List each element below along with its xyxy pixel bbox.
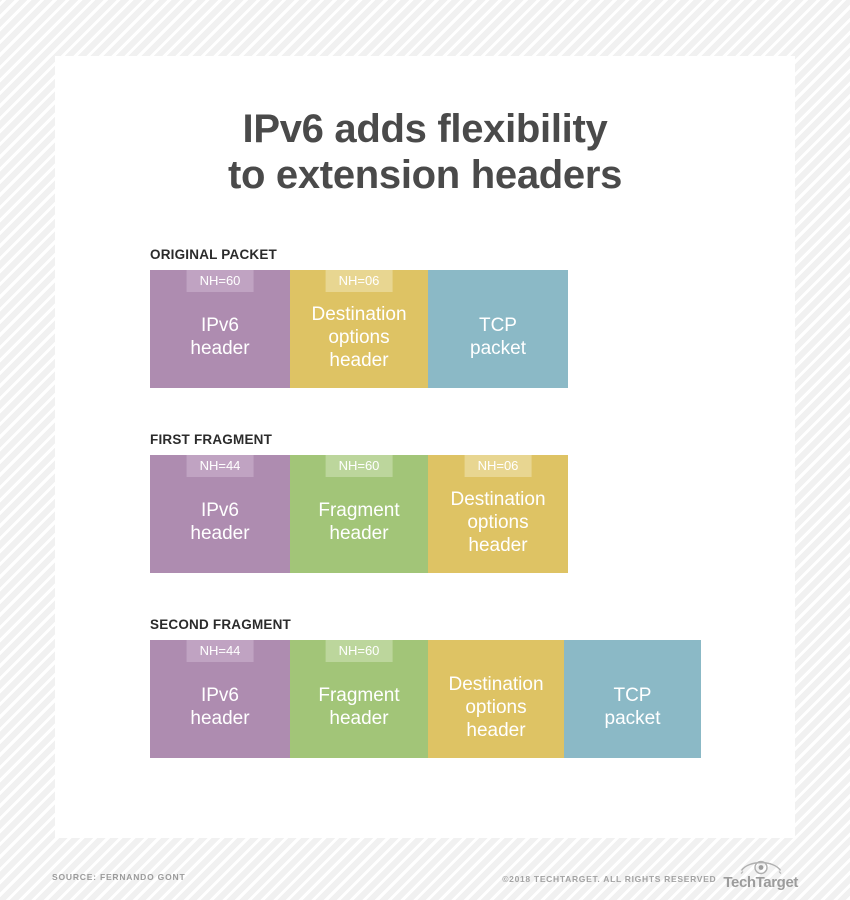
packet-block-label: Fragment header (314, 684, 403, 730)
page-title: IPv6 adds flexibility to extension heade… (55, 56, 795, 198)
footer-branding: ©2018 TECHTARGET. ALL RIGHTS RESERVED Te… (502, 858, 798, 894)
section-label: SECOND FRAGMENT (150, 617, 750, 632)
packet-section: ORIGINAL PACKETNH=60IPv6 headerNH=06Dest… (150, 247, 750, 388)
packet-block[interactable]: TCP packet (428, 270, 568, 388)
packet-section: SECOND FRAGMENTNH=44IPv6 headerNH=60Frag… (150, 617, 750, 758)
next-header-badge: NH=60 (326, 455, 393, 477)
packet-section: FIRST FRAGMENTNH=44IPv6 headerNH=60Fragm… (150, 432, 750, 573)
packet-block[interactable]: NH=44IPv6 header (150, 455, 290, 573)
packet-block[interactable]: TCP packet (564, 640, 701, 758)
packet-row: NH=60IPv6 headerNH=06Destination options… (150, 270, 750, 388)
packet-block[interactable]: NH=44IPv6 header (150, 640, 290, 758)
packet-block[interactable]: Destination options header (428, 640, 564, 758)
packet-block-label: IPv6 header (186, 499, 253, 545)
title-line-2: to extension headers (55, 152, 795, 198)
packet-block[interactable]: NH=60Fragment header (290, 640, 428, 758)
techtarget-logo: TechTarget (723, 858, 798, 890)
content-card: IPv6 adds flexibility to extension heade… (55, 56, 795, 838)
packet-row: NH=44IPv6 headerNH=60Fragment headerNH=0… (150, 455, 750, 573)
next-header-badge: NH=44 (187, 455, 254, 477)
techtarget-wordmark: TechTarget (723, 875, 798, 890)
packet-block[interactable]: NH=60Fragment header (290, 455, 428, 573)
packet-row: NH=44IPv6 headerNH=60Fragment headerDest… (150, 640, 750, 758)
section-label: ORIGINAL PACKET (150, 247, 750, 262)
packet-diagrams: ORIGINAL PACKETNH=60IPv6 headerNH=06Dest… (150, 247, 750, 758)
packet-block-label: Destination options header (307, 303, 410, 372)
source-credit: SOURCE: FERNANDO GONT (52, 872, 185, 882)
next-header-badge: NH=06 (465, 455, 532, 477)
footer: SOURCE: FERNANDO GONT ©2018 TECHTARGET. … (0, 858, 850, 900)
packet-block-label: TCP packet (466, 314, 530, 360)
packet-block-label: TCP packet (601, 684, 665, 730)
packet-block-label: Fragment header (314, 499, 403, 545)
next-header-badge: NH=60 (187, 270, 254, 292)
packet-block[interactable]: NH=60IPv6 header (150, 270, 290, 388)
packet-block-label: IPv6 header (186, 314, 253, 360)
packet-block-label: Destination options header (446, 488, 549, 557)
title-line-1: IPv6 adds flexibility (55, 106, 795, 152)
next-header-badge: NH=06 (326, 270, 393, 292)
section-label: FIRST FRAGMENT (150, 432, 750, 447)
packet-block[interactable]: NH=06Destination options header (428, 455, 568, 573)
eye-icon (740, 858, 782, 875)
packet-block-label: IPv6 header (186, 684, 253, 730)
packet-block[interactable]: NH=06Destination options header (290, 270, 428, 388)
next-header-badge: NH=60 (326, 640, 393, 662)
copyright-text: ©2018 TECHTARGET. ALL RIGHTS RESERVED (502, 874, 716, 884)
packet-block-label: Destination options header (444, 673, 547, 742)
next-header-badge: NH=44 (187, 640, 254, 662)
